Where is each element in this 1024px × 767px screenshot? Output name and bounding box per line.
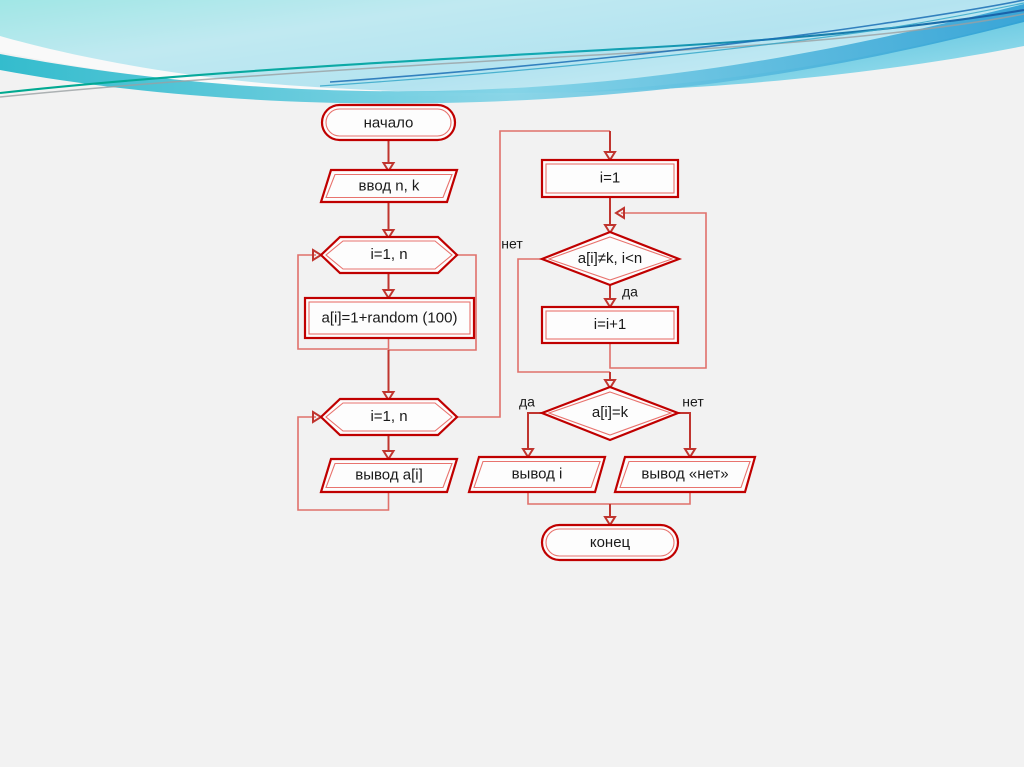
node-start-label: начало [364,114,414,131]
edge-whilecond-yes-to-incr [605,285,615,307]
edge-label-eq-no: нет [682,394,704,410]
node-print-none-label: вывод «нет» [641,465,728,482]
node-end[interactable]: конец [542,525,678,560]
edge-loop2-to-printarr [384,435,394,459]
node-increment-label: i=i+1 [594,316,627,333]
node-print-index[interactable]: вывод i [469,457,605,492]
node-input[interactable]: ввод n, k [321,170,457,202]
node-while-condition-label: a[i]≠k, i<n [578,250,643,267]
edge-eqcond-yes-to-printi [523,413,542,457]
node-fill[interactable]: a[i]=1+random (100) [305,298,474,338]
node-loop1[interactable]: i=1, n [321,237,457,273]
node-loop2-label: i=1, n [370,408,407,425]
edge-label-while-no: нет [501,236,523,252]
node-loop1-label: i=1, n [370,246,407,263]
edge-label-while-yes: да [622,284,638,300]
edge-input-to-loop1 [384,202,394,238]
edge-init-to-whilecond [605,197,615,233]
edge-start-to-input [384,140,394,171]
node-increment[interactable]: i=i+1 [542,307,678,343]
node-init-label: i=1 [600,169,620,186]
edge-eqcond-no-to-printnone [678,413,695,457]
node-input-label: ввод n, k [359,177,420,194]
node-loop2[interactable]: i=1, n [321,399,457,435]
node-print-none[interactable]: вывод «нет» [615,457,755,492]
node-print-index-label: вывод i [512,465,563,482]
node-equal-condition[interactable]: a[i]=k [542,387,678,440]
node-print-array[interactable]: вывод a[i] [321,459,457,492]
node-print-array-label: вывод a[i] [355,466,423,483]
node-while-condition[interactable]: a[i]≠k, i<n [542,232,679,285]
node-fill-label: a[i]=1+random (100) [322,309,458,326]
edge-label-eq-yes: да [519,394,535,410]
node-equal-condition-label: a[i]=k [592,404,629,421]
node-start[interactable]: начало [322,105,455,140]
slide-canvas: начало ввод n, k i=1, n a[i]=1+random (1… [0,0,1024,767]
edge-loop1-to-fill [384,273,394,298]
node-end-label: конец [590,534,631,551]
node-init[interactable]: i=1 [542,160,678,197]
flowchart: начало ввод n, k i=1, n a[i]=1+random (1… [0,0,1024,767]
edge-outputs-to-end [528,492,690,525]
